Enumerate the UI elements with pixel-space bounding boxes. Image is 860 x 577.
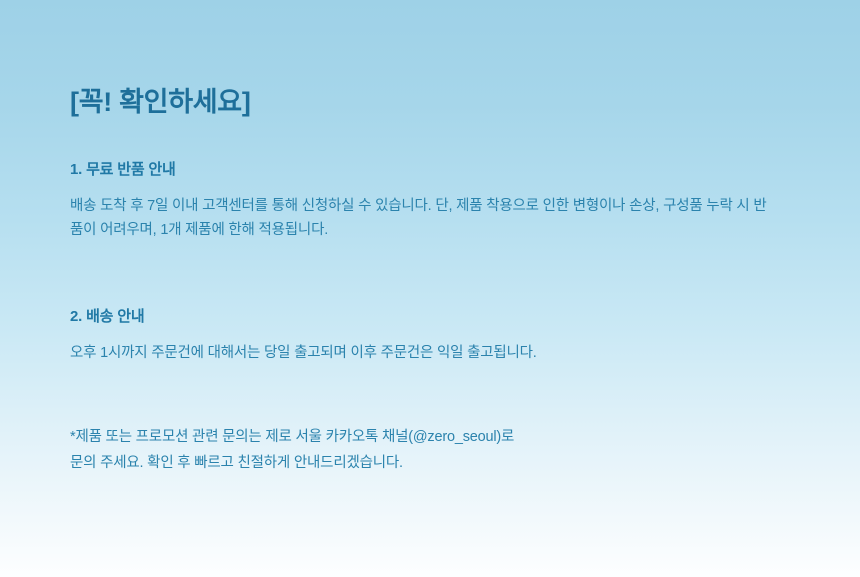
section-shipping-info: 2. 배송 안내 오후 1시까지 주문건에 대해서는 당일 출고되며 이후 주문…	[70, 307, 770, 365]
contact-note-line-2: 문의 주세요. 확인 후 빠르고 친절하게 안내드리겠습니다.	[70, 451, 790, 477]
contact-note-line-1: *제품 또는 프로모션 관련 문의는 제로 서울 카카오톡 채널(@zero_s…	[70, 429, 514, 445]
contact-note: *제품 또는 프로모션 관련 문의는 제로 서울 카카오톡 채널(@zero_s…	[70, 425, 790, 477]
section-heading-return-policy: 1. 무료 반품 안내	[70, 160, 770, 180]
section-body-shipping-info: 오후 1시까지 주문건에 대해서는 당일 출고되며 이후 주문건은 익일 출고됩…	[70, 341, 770, 366]
page-title: [꼭! 확인하세요]	[70, 86, 251, 118]
section-heading-shipping-info: 2. 배송 안내	[70, 307, 770, 327]
notice-page: [꼭! 확인하세요] 1. 무료 반품 안내 배송 도착 후 7일 이내 고객센…	[0, 0, 860, 577]
section-body-return-policy: 배송 도착 후 7일 이내 고객센터를 통해 신청하실 수 있습니다. 단, 제…	[70, 194, 770, 244]
section-return-policy: 1. 무료 반품 안내 배송 도착 후 7일 이내 고객센터를 통해 신청하실 …	[70, 160, 770, 243]
